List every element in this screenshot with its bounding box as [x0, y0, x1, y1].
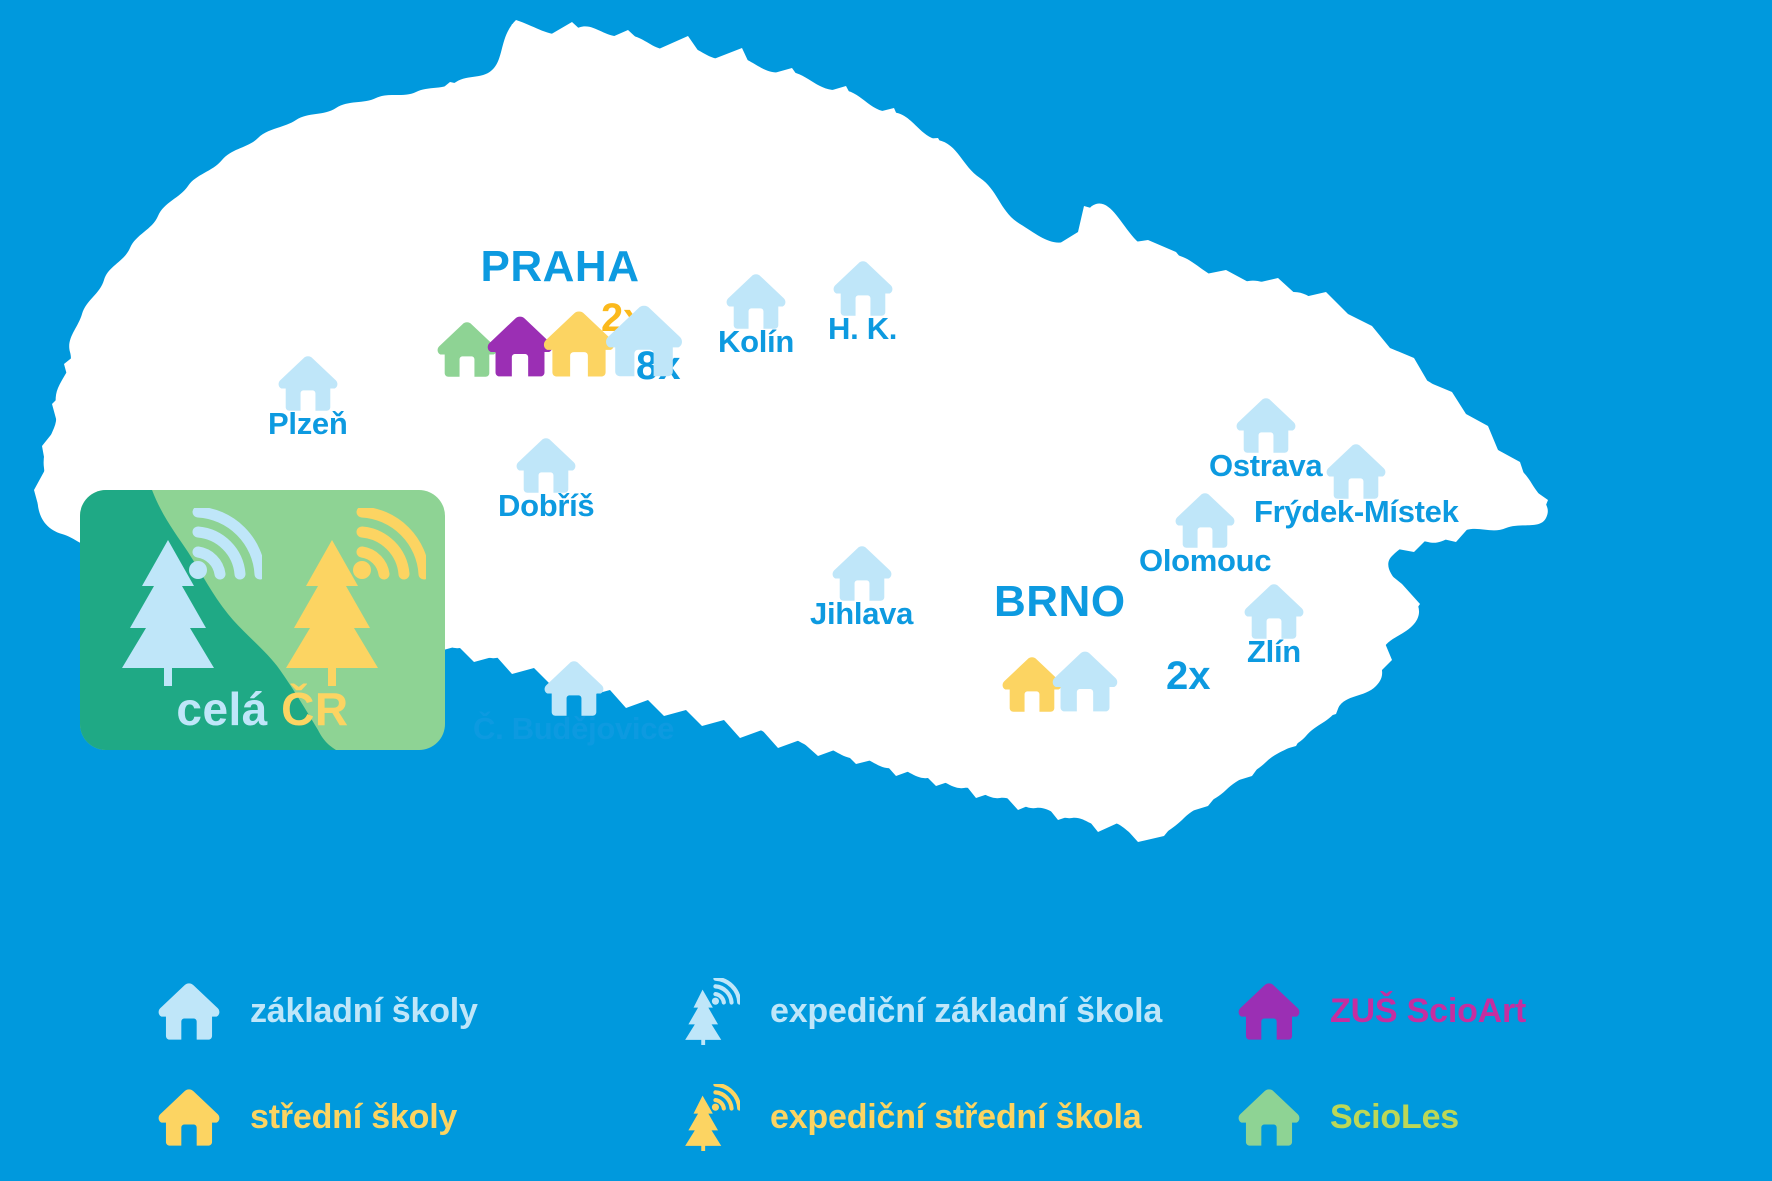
legend-zus-scioart-label: ZUŠ ScioArt: [1330, 992, 1526, 1031]
legend-expedition-secondary-label: expediční střední škola: [770, 1098, 1141, 1137]
infographic-canvas: celá ČR PRAHAKolínH. K.PlzeňDobříšOstrav…: [0, 0, 1772, 1181]
city-marker-praha[interactable]: PRAHA: [436, 248, 684, 378]
expedition-basic-tree-icon: [102, 508, 262, 686]
city-marker-hradec-kralove[interactable]: H. K.: [828, 255, 897, 347]
tree-wifi-icon: [670, 978, 748, 1045]
legend-column-brands: ZUŠ ScioArtScioLes: [1230, 975, 1710, 1153]
city-marker-plzen[interactable]: Plzeň: [268, 350, 347, 442]
house-icon: [1230, 1088, 1308, 1147]
legend-column-expedition: expediční základní školaexpediční středn…: [670, 975, 1230, 1153]
city-marker-olomouc[interactable]: Olomouc: [1139, 487, 1271, 579]
cela-cr-word-2: ČR: [281, 683, 348, 735]
house-icon: [150, 1088, 228, 1147]
city-marker-kolin[interactable]: Kolín: [718, 268, 794, 360]
legend-expedition-basic-label: expediční základní škola: [770, 992, 1162, 1031]
tree-wifi-icon: [670, 1084, 748, 1151]
cela-cr-panel: celá ČR: [80, 490, 445, 750]
basic-house-icon: [604, 304, 684, 378]
city-marker-ceske-budejovice[interactable]: Č. Budějovice: [473, 655, 674, 747]
city-marker-zlin[interactable]: Zlín: [1243, 578, 1305, 670]
cela-cr-word-1: celá: [176, 683, 268, 735]
legend-scioles[interactable]: ScioLes: [1230, 1081, 1710, 1153]
basic-house-icon: [831, 545, 893, 602]
legend-scioles-label: ScioLes: [1330, 1098, 1459, 1137]
legend-secondary-schools[interactable]: střední školy: [150, 1081, 670, 1153]
city-label-brno: BRNO: [994, 577, 1126, 627]
cela-cr-caption: celá ČR: [80, 682, 445, 736]
basic-house-icon: [277, 355, 339, 412]
legend-secondary-schools-label: střední školy: [250, 1098, 457, 1137]
city-marker-dobris[interactable]: Dobříš: [498, 432, 594, 524]
legend-zus-scioart[interactable]: ZUŠ ScioArt: [1230, 975, 1710, 1047]
house-icon: [1230, 982, 1308, 1041]
basic-house-icon: [1325, 443, 1387, 500]
city-label-praha: PRAHA: [481, 242, 640, 292]
legend-expedition-secondary[interactable]: expediční střední škola: [670, 1081, 1230, 1153]
legend-expedition-basic[interactable]: expediční základní škola: [670, 975, 1230, 1047]
legend-column-schools: základní školystřední školy: [150, 975, 670, 1153]
city-marker-brno[interactable]: BRNO: [994, 583, 1126, 713]
expedition-secondary-tree-icon: [266, 508, 426, 686]
basic-house-icon: [1174, 492, 1236, 549]
basic-house-icon: [543, 660, 605, 717]
house-icon: [150, 982, 228, 1041]
legend-basic-schools[interactable]: základní školy: [150, 975, 670, 1047]
basic-house-icon: [1051, 650, 1119, 713]
city-marker-jihlava[interactable]: Jihlava: [810, 540, 913, 632]
legend-basic-schools-label: základní školy: [250, 992, 478, 1031]
basic-house-icon: [1243, 583, 1305, 640]
city-marker-frydek-mistek[interactable]: Frýdek-Místek: [1254, 438, 1459, 530]
brno-basic-count: 2x: [1166, 654, 1211, 699]
basic-house-icon: [725, 273, 787, 330]
basic-house-icon: [515, 437, 577, 494]
basic-house-icon: [832, 260, 894, 317]
legend: základní školystřední školyexpediční zák…: [0, 975, 1772, 1153]
